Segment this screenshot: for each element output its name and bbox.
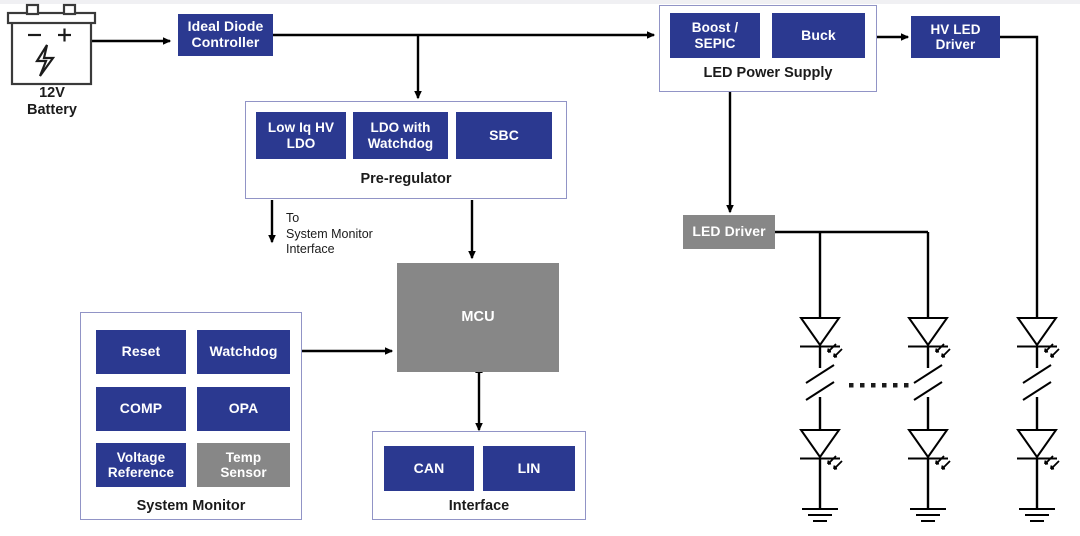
battery-label: 12V Battery [4, 85, 100, 120]
led-power-supply-group-label: LED Power Supply [659, 65, 877, 81]
ellipsis-dots [849, 383, 909, 388]
battery-symbol [8, 5, 95, 84]
to-system-monitor-interface-note: To System Monitor Interface [286, 211, 373, 258]
system-monitor-item-opa[interactable]: OPA [197, 387, 290, 431]
system-monitor-item-voltage-reference[interactable]: Voltage Reference [96, 443, 186, 487]
interface-item-can[interactable]: CAN [384, 446, 474, 491]
system-monitor-item-reset[interactable]: Reset [96, 330, 186, 374]
system-monitor-item-temp-sensor[interactable]: Temp Sensor [197, 443, 290, 487]
hv-led-driver-block[interactable]: HV LED Driver [911, 16, 1000, 58]
pre-regulator-item-ldo-with-watchdog[interactable]: LDO with Watchdog [353, 112, 448, 159]
ideal-diode-controller-block[interactable]: Ideal Diode Controller [178, 14, 273, 56]
led-driver-block[interactable]: LED Driver [683, 215, 775, 249]
mcu-block[interactable]: MCU [397, 263, 559, 372]
system-monitor-item-comp[interactable]: COMP [96, 387, 186, 431]
led-string-3 [1017, 318, 1059, 521]
interface-group-label: Interface [372, 498, 586, 514]
pre-regulator-item-low-iq-hv-ldo[interactable]: Low Iq HV LDO [256, 112, 346, 159]
led-power-supply-item-buck[interactable]: Buck [772, 13, 865, 58]
diagram-canvas: 12V Battery Ideal Diode Controller Low I… [0, 0, 1080, 536]
interface-item-lin[interactable]: LIN [483, 446, 575, 491]
led-string-1 [800, 318, 842, 521]
pre-regulator-item-sbc[interactable]: SBC [456, 112, 552, 159]
system-monitor-group-label: System Monitor [80, 498, 302, 514]
wire-led-driver-bus [775, 232, 928, 318]
system-monitor-item-watchdog[interactable]: Watchdog [197, 330, 290, 374]
wire-hv-led-driver-to-string3 [1000, 37, 1037, 318]
pre-regulator-group-label: Pre-regulator [245, 171, 567, 187]
led-string-2 [908, 318, 950, 521]
led-power-supply-item-boost-sepic[interactable]: Boost / SEPIC [670, 13, 760, 58]
